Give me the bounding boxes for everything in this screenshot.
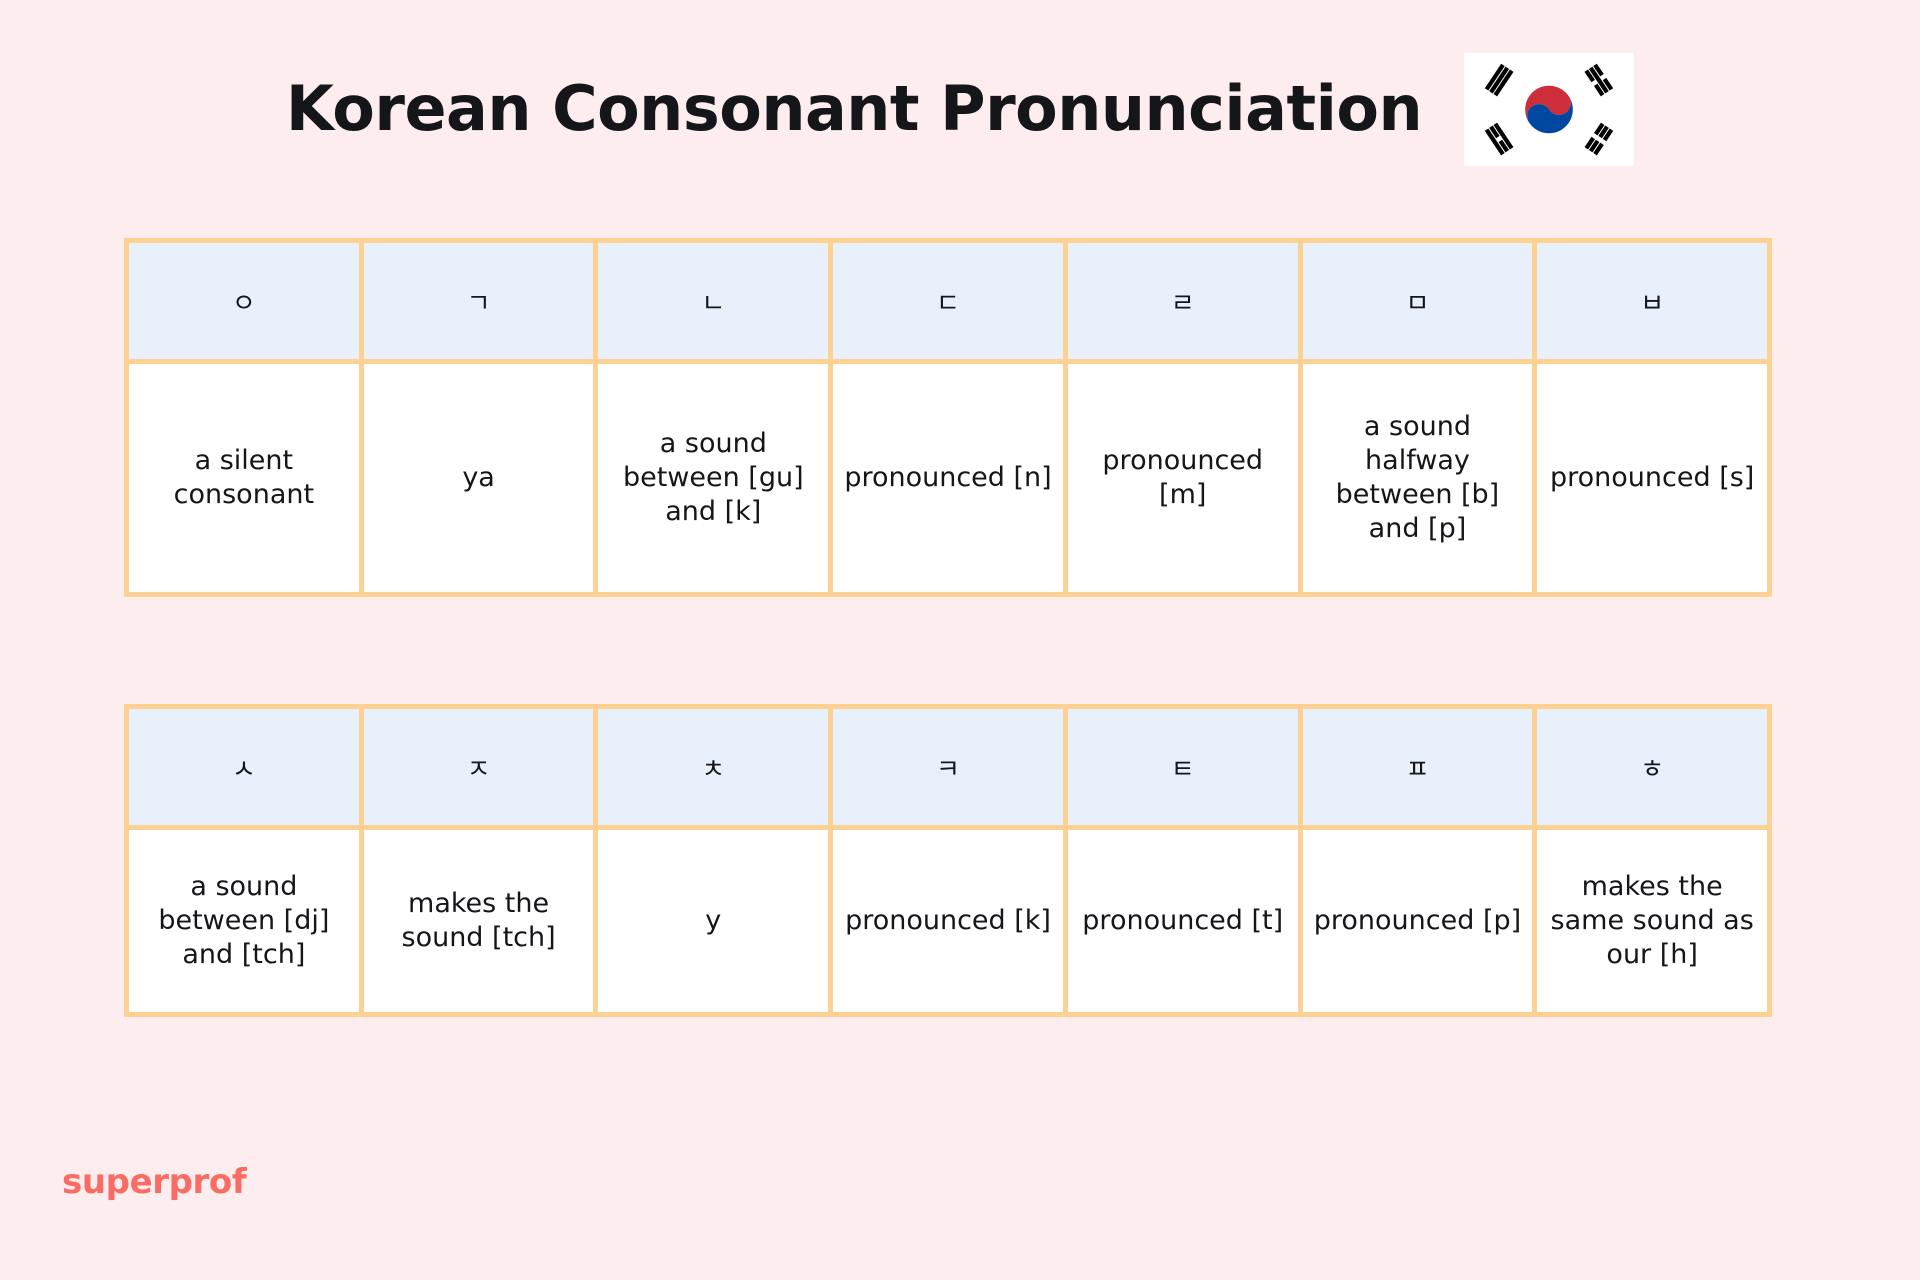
- header-cell: ㄹ: [1068, 243, 1303, 359]
- header-cell: ㅇ: [129, 243, 364, 359]
- header-cell: ㅈ: [364, 709, 599, 825]
- table-header-row: ㅇ ㄱ ㄴ ㄷ ㄹ ㅁ ㅂ: [129, 243, 1767, 359]
- header-cell: ㅊ: [598, 709, 833, 825]
- description-cell: a sound halfway between [b] and [p]: [1303, 364, 1538, 592]
- south-korea-flag-icon: [1464, 52, 1634, 167]
- consonant-table-2: ㅅ ㅈ ㅊ ㅋ ㅌ ㅍ ㅎ a sound between [dj] and […: [124, 704, 1772, 1017]
- description-cell: pronounced [s]: [1537, 364, 1767, 592]
- description-cell: makes the same sound as our [h]: [1537, 830, 1767, 1012]
- description-cell: a sound between [dj] and [tch]: [129, 830, 364, 1012]
- header-cell: ㄱ: [364, 243, 599, 359]
- header-cell: ㄴ: [598, 243, 833, 359]
- header-cell: ㄷ: [833, 243, 1068, 359]
- consonant-table-1: ㅇ ㄱ ㄴ ㄷ ㄹ ㅁ ㅂ a silent consonant ya a so…: [124, 238, 1772, 597]
- description-cell: pronounced [k]: [833, 830, 1068, 1012]
- description-cell: y: [598, 830, 833, 1012]
- superprof-logo[interactable]: superprof: [62, 1162, 246, 1202]
- description-cell: a silent consonant: [129, 364, 364, 592]
- header-cell: ㅋ: [833, 709, 1068, 825]
- table-body-row: a silent consonant ya a sound between [g…: [129, 359, 1767, 592]
- description-cell: a sound between [gu] and [k]: [598, 364, 833, 592]
- description-cell: pronounced [p]: [1303, 830, 1538, 1012]
- header-cell: ㅎ: [1537, 709, 1767, 825]
- header-cell: ㅅ: [129, 709, 364, 825]
- header-cell: ㅁ: [1303, 243, 1538, 359]
- page-header: Korean Consonant Pronunciation: [0, 44, 1920, 174]
- table-body-row: a sound between [dj] and [tch] makes the…: [129, 825, 1767, 1012]
- description-cell: pronounced [m]: [1068, 364, 1303, 592]
- header-cell: ㅍ: [1303, 709, 1538, 825]
- table-header-row: ㅅ ㅈ ㅊ ㅋ ㅌ ㅍ ㅎ: [129, 709, 1767, 825]
- description-cell: ya: [364, 364, 599, 592]
- description-cell: pronounced [t]: [1068, 830, 1303, 1012]
- page-title: Korean Consonant Pronunciation: [286, 76, 1422, 141]
- header-cell: ㅂ: [1537, 243, 1767, 359]
- description-cell: makes the sound [tch]: [364, 830, 599, 1012]
- header-cell: ㅌ: [1068, 709, 1303, 825]
- description-cell: pronounced [n]: [833, 364, 1068, 592]
